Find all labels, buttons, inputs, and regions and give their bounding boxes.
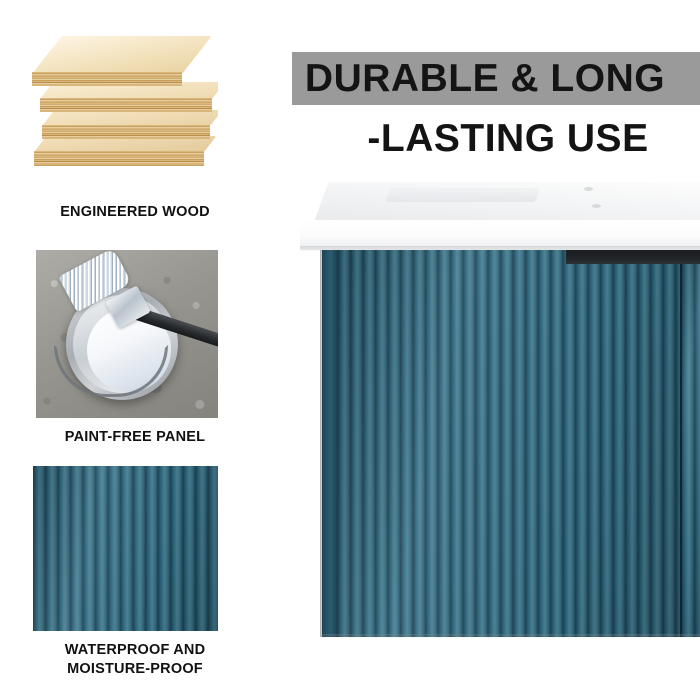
plywood-sheet-3-edge bbox=[42, 125, 210, 139]
fluted-panel-texture-photo bbox=[33, 466, 218, 631]
vanity-cabinet bbox=[322, 250, 700, 637]
plywood-sheets-photo bbox=[28, 18, 218, 193]
cabinet-door-left[interactable] bbox=[338, 250, 680, 637]
cabinet-side-panel bbox=[322, 250, 338, 637]
caption-line: MOISTURE-PROOF bbox=[10, 660, 260, 679]
cabinet-door-left-shading bbox=[338, 250, 680, 637]
feature-card-engineered-wood: ENGINEERED WOOD bbox=[0, 18, 260, 222]
integrated-sink-basin bbox=[385, 188, 540, 202]
feature-column: ENGINEERED WOOD PAINT-FREE PANEL WAT bbox=[0, 0, 260, 700]
feature-caption-waterproof: WATERPROOF AND MOISTURE-PROOF bbox=[0, 641, 260, 679]
plywood-stack-illustration bbox=[28, 18, 218, 193]
caption-line: WATERPROOF AND bbox=[10, 641, 260, 660]
caption-line: ENGINEERED WOOD bbox=[10, 203, 260, 222]
plywood-sheet-1-face bbox=[32, 36, 212, 74]
product-image-vanity bbox=[292, 176, 700, 656]
faucet-hole bbox=[584, 187, 593, 191]
feature-caption-engineered-wood: ENGINEERED WOOD bbox=[0, 203, 260, 222]
fluted-panel-shading bbox=[33, 466, 218, 631]
cabinet-front bbox=[338, 250, 700, 637]
faucet-hole bbox=[592, 204, 601, 208]
plywood-sheet-3 bbox=[42, 110, 210, 142]
feature-card-waterproof: WATERPROOF AND MOISTURE-PROOF bbox=[0, 466, 260, 679]
headline-line-2: -LASTING USE bbox=[292, 119, 700, 158]
headline-block: DURABLE & LONG -LASTING USE bbox=[292, 52, 700, 158]
feature-caption-paint-free-panel: PAINT-FREE PANEL bbox=[0, 428, 260, 447]
plywood-sheet-4-edge bbox=[34, 151, 204, 166]
cabinet-door-right-shading bbox=[682, 250, 700, 637]
cabinet-bottom-shadow bbox=[322, 634, 700, 638]
plywood-sheet-1-edge bbox=[32, 72, 182, 86]
feature-card-paint-free-panel: PAINT-FREE PANEL bbox=[0, 250, 260, 447]
headline-line-1: DURABLE & LONG bbox=[305, 59, 665, 98]
caption-line: PAINT-FREE PANEL bbox=[10, 428, 260, 447]
cabinet-handle-recess[interactable] bbox=[566, 250, 700, 264]
headline-banner: DURABLE & LONG bbox=[292, 52, 700, 105]
cabinet-door-right[interactable] bbox=[682, 250, 700, 637]
plywood-sheet-2-edge bbox=[40, 98, 212, 112]
plywood-sheet-1 bbox=[32, 36, 182, 88]
paint-can-brush-photo bbox=[36, 250, 218, 418]
